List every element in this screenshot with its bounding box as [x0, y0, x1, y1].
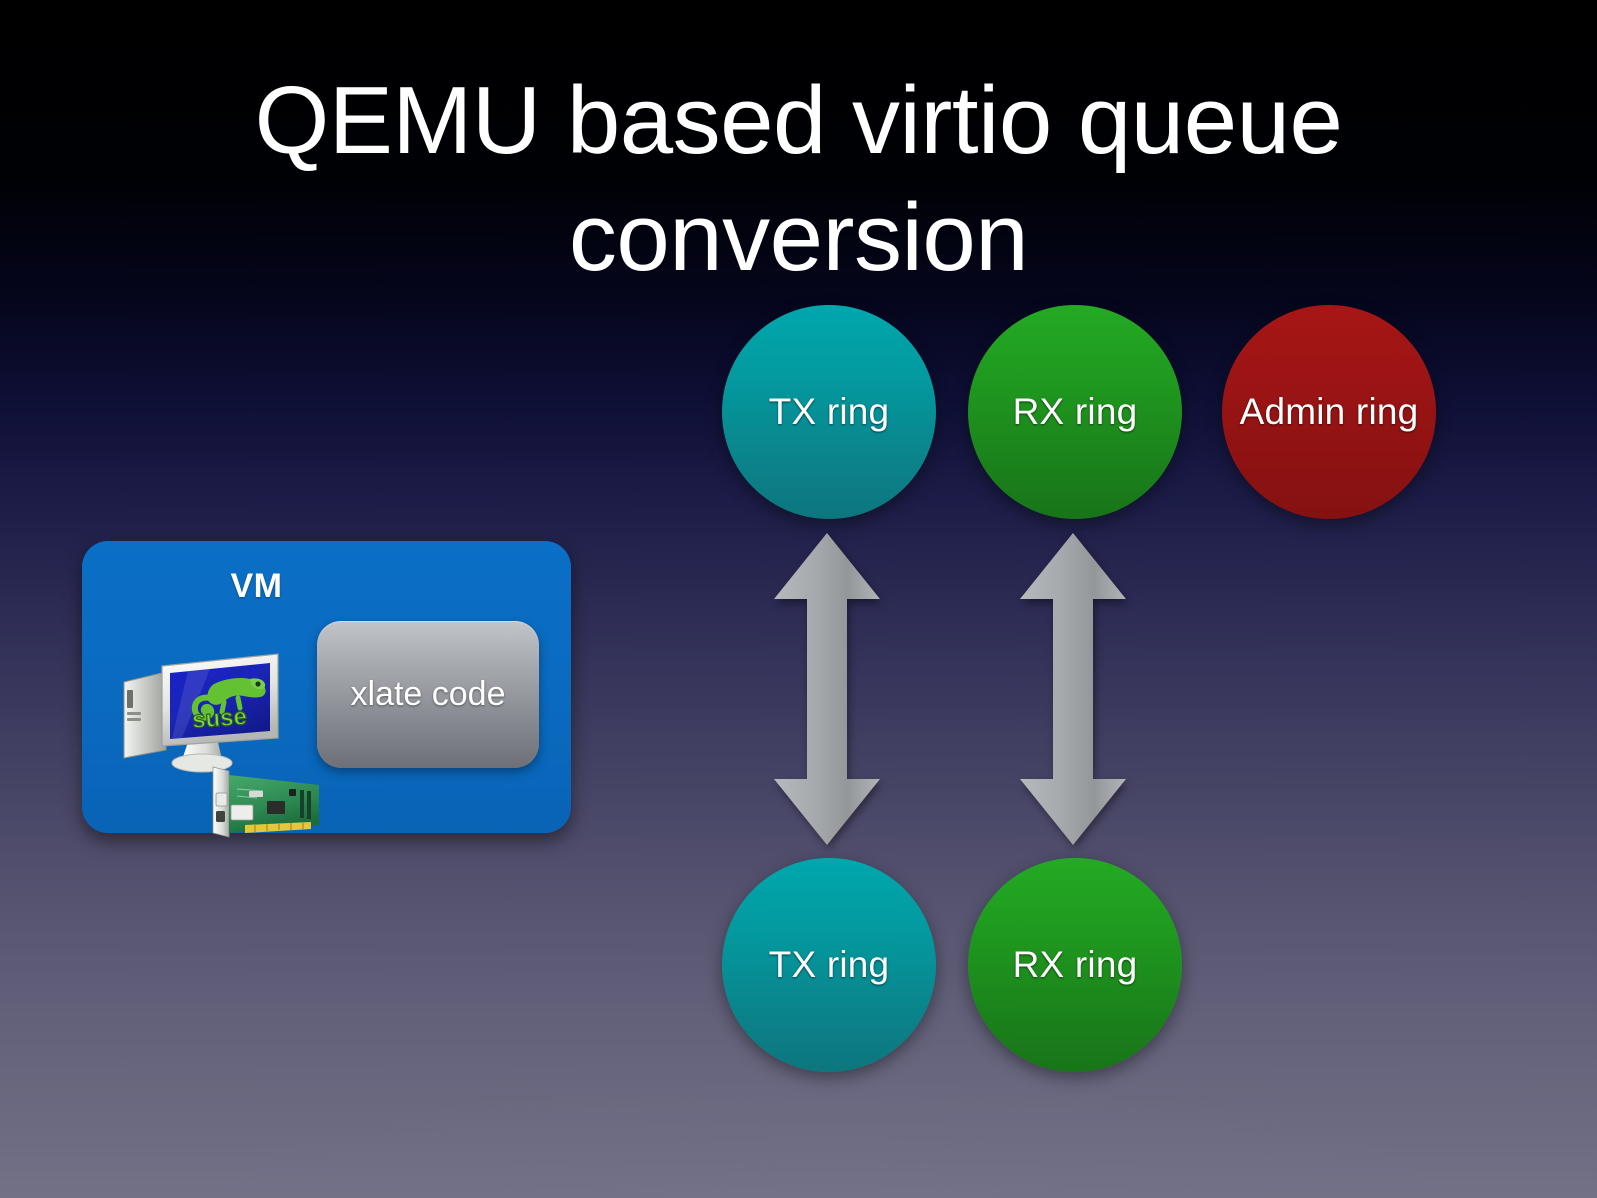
- network-card-icon: [207, 763, 327, 841]
- presentation-slide: QEMU based virtio queue conversion TX ri…: [0, 0, 1597, 1198]
- vm-label: VM: [82, 567, 571, 606]
- vm-label-text: VM: [231, 567, 283, 606]
- xlate-code-label: xlate code: [351, 675, 506, 714]
- ring-tx-bottom[interactable]: TX ring: [722, 858, 936, 1072]
- tx-bidirectional-arrow-icon: [772, 533, 882, 845]
- rx-bidirectional-arrow-icon: [1018, 533, 1128, 845]
- suse-computer-icon: suse: [118, 646, 283, 774]
- ring-rx-bottom-label: RX ring: [1013, 944, 1138, 986]
- ring-tx-top[interactable]: TX ring: [722, 305, 936, 519]
- svg-text:suse: suse: [191, 703, 247, 734]
- ring-tx-top-label: TX ring: [769, 391, 890, 433]
- ring-admin-top-label: Admin ring: [1240, 391, 1419, 433]
- ring-rx-bottom[interactable]: RX ring: [968, 858, 1182, 1072]
- ring-admin-top[interactable]: Admin ring: [1222, 305, 1436, 519]
- vm-container[interactable]: VM: [82, 541, 571, 833]
- slide-title: QEMU based virtio queue conversion: [0, 62, 1597, 296]
- ring-rx-top[interactable]: RX ring: [968, 305, 1182, 519]
- xlate-code-box[interactable]: xlate code: [317, 621, 539, 768]
- ring-rx-top-label: RX ring: [1013, 391, 1138, 433]
- ring-tx-bottom-label: TX ring: [769, 944, 890, 986]
